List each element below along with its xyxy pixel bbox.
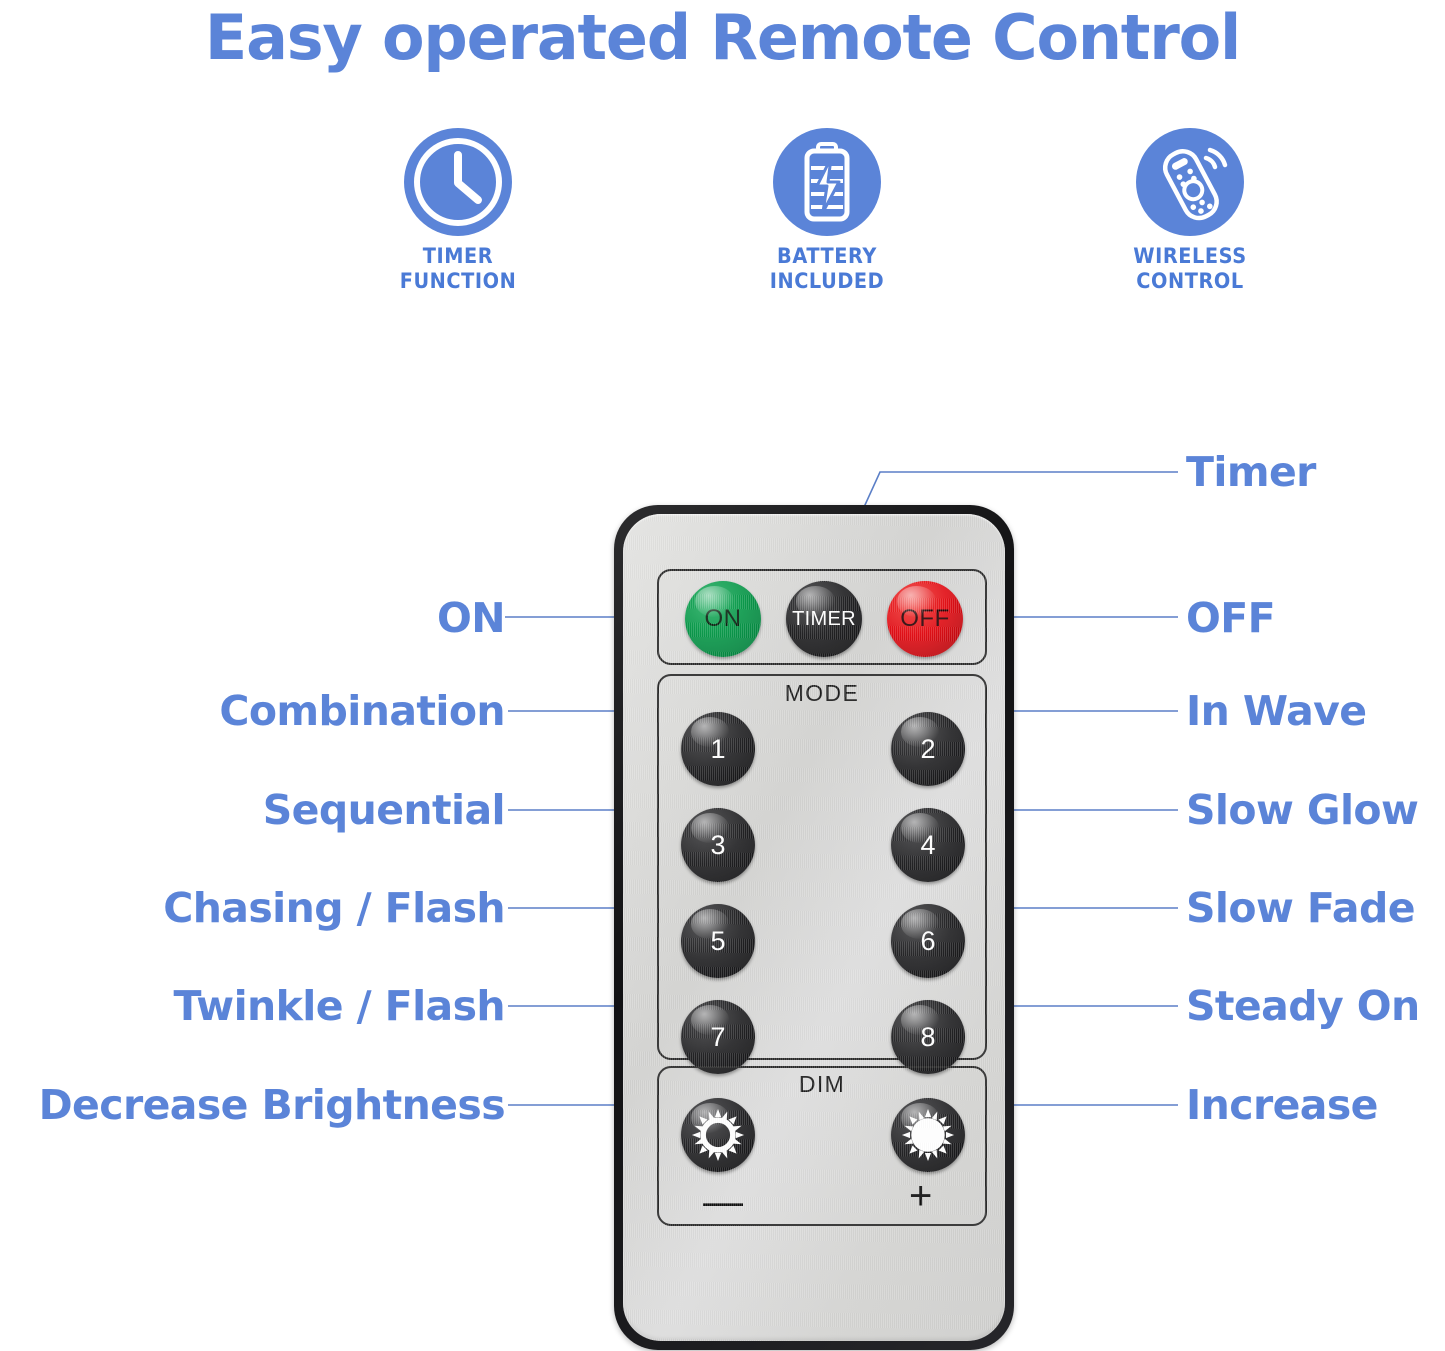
dim-label: DIM bbox=[659, 1071, 985, 1098]
callout-on: ON bbox=[0, 595, 505, 641]
remote-control: ON TIMER OFF MODE 1 2 3 4 5 6 7 8 DIM bbox=[614, 505, 1014, 1350]
callout-chasing-flash: Chasing / Flash bbox=[0, 885, 505, 931]
product-infographic: Easy operated Remote Control TIMER FUNCT… bbox=[0, 0, 1445, 1351]
callout-timer: Timer bbox=[1186, 449, 1316, 495]
clock-icon bbox=[404, 128, 512, 236]
feature-battery-included: BATTERY INCLUDED bbox=[677, 128, 977, 294]
feature-label: WIRELESS CONTROL bbox=[1052, 244, 1328, 294]
callout-twinkle-flash: Twinkle / Flash bbox=[0, 983, 505, 1029]
remote-icon bbox=[1136, 128, 1244, 236]
power-panel: ON TIMER OFF bbox=[657, 569, 987, 665]
battery-icon bbox=[773, 128, 881, 236]
callout-slow-fade: Slow Fade bbox=[1186, 885, 1415, 931]
mode-button-4[interactable]: 4 bbox=[891, 808, 965, 882]
callout-combination: Combination bbox=[0, 688, 505, 734]
on-button[interactable]: ON bbox=[685, 581, 761, 657]
mode-button-2[interactable]: 2 bbox=[891, 712, 965, 786]
callout-sequential: Sequential bbox=[0, 787, 505, 833]
callout-slow-glow: Slow Glow bbox=[1186, 787, 1418, 833]
mode-button-8[interactable]: 8 bbox=[891, 1000, 965, 1074]
callout-steady-on: Steady On bbox=[1186, 983, 1420, 1029]
mode-button-6[interactable]: 6 bbox=[891, 904, 965, 978]
mode-button-3[interactable]: 3 bbox=[681, 808, 755, 882]
dim-minus-symbol: — bbox=[703, 1182, 743, 1222]
callout-in-wave: In Wave bbox=[1186, 688, 1366, 734]
dim-up-button[interactable] bbox=[891, 1098, 965, 1172]
feature-label: BATTERY INCLUDED bbox=[689, 244, 965, 294]
mode-button-1[interactable]: 1 bbox=[681, 712, 755, 786]
page-title: Easy operated Remote Control bbox=[0, 2, 1445, 74]
remote-face: ON TIMER OFF MODE 1 2 3 4 5 6 7 8 DIM bbox=[623, 514, 1005, 1341]
dim-down-button[interactable] bbox=[681, 1098, 755, 1172]
feature-timer-function: TIMER FUNCTION bbox=[308, 128, 608, 294]
mode-panel: MODE 1 2 3 4 5 6 7 8 bbox=[657, 674, 987, 1060]
sun-solid-icon bbox=[897, 1104, 959, 1166]
dim-panel: DIM bbox=[657, 1066, 987, 1226]
feature-label: TIMER FUNCTION bbox=[320, 244, 596, 294]
sun-hollow-icon bbox=[687, 1104, 749, 1166]
timer-button[interactable]: TIMER bbox=[786, 581, 862, 657]
callout-decrease-brightness: Decrease Brightness bbox=[0, 1082, 505, 1128]
callout-off: OFF bbox=[1186, 595, 1275, 641]
off-button[interactable]: OFF bbox=[887, 581, 963, 657]
mode-label: MODE bbox=[659, 680, 985, 707]
callout-increase: Increase bbox=[1186, 1082, 1378, 1128]
mode-button-5[interactable]: 5 bbox=[681, 904, 755, 978]
feature-badges: TIMER FUNCTION BATTERY INCLUDED bbox=[300, 128, 1330, 313]
feature-wireless-control: WIRELESS CONTROL bbox=[1040, 128, 1340, 294]
mode-button-7[interactable]: 7 bbox=[681, 1000, 755, 1074]
dim-plus-symbol: + bbox=[909, 1176, 932, 1216]
